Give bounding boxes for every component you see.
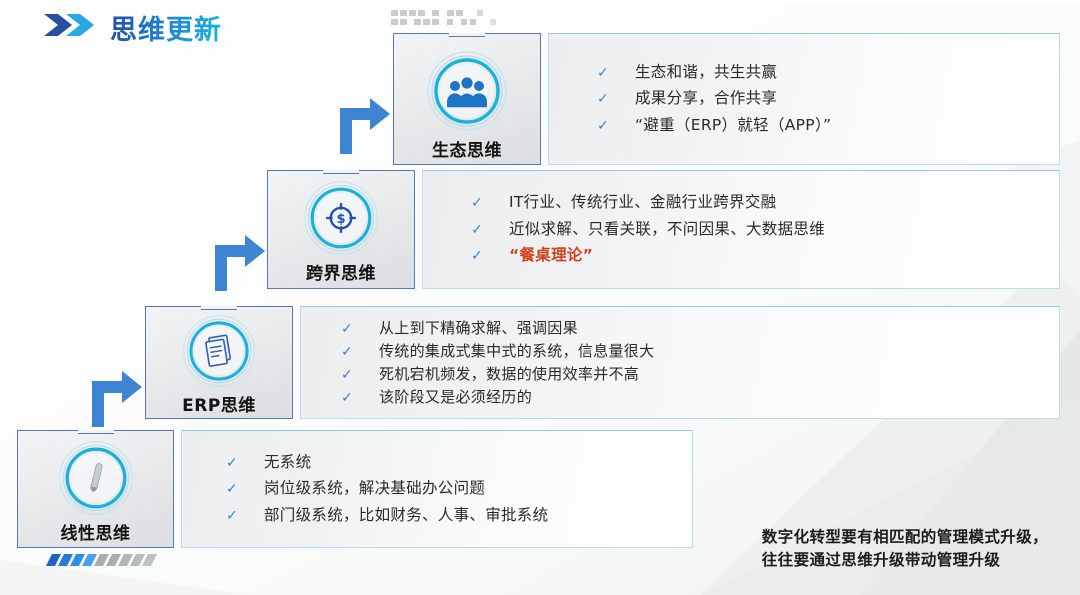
- bullet-text: 成果分享，合作共享: [635, 91, 777, 107]
- bullet-item: ✓ “餐桌理论”: [471, 248, 1059, 264]
- check-icon: ✓: [597, 66, 635, 80]
- check-icon: ✓: [597, 119, 635, 133]
- step-icon-card-erp[interactable]: ERP思维: [145, 306, 293, 419]
- page-title: 思维更新: [44, 8, 222, 47]
- check-icon: ✓: [341, 391, 379, 405]
- step-row-ecology[interactable]: 生态思维 ✓ 生态和谐，共生共赢 ✓ 成果分享，合作共享 ✓ “避重（ERP）就…: [393, 33, 1060, 165]
- bullet-text: IT行业、传统行业、金融行业跨界交融: [509, 195, 776, 211]
- step-label-crossover: 跨界思维: [306, 259, 376, 284]
- step-label-linear: 线性思维: [61, 519, 131, 544]
- step-icon-card-linear[interactable]: 线性思维: [17, 430, 174, 548]
- check-icon: ✓: [471, 196, 509, 210]
- pen-stroke-icon: [57, 439, 135, 517]
- diagonal-slashes-decoration: [42, 552, 164, 573]
- footer-note-line-2: 往往要通过思维升级带动管理升级: [762, 549, 1048, 571]
- check-icon: ✓: [226, 456, 264, 470]
- svg-text:$: $: [336, 212, 345, 227]
- check-icon: ✓: [471, 223, 509, 237]
- bullet-item: ✓ 岗位级系统，解决基础办公问题: [226, 481, 692, 497]
- check-icon: ✓: [341, 345, 379, 359]
- bullet-text: “餐桌理论”: [509, 248, 593, 264]
- bullet-item: ✓ 传统的集成式集中式的系统，信息量很大: [341, 344, 1059, 359]
- bullet-text: 死机宕机频发，数据的使用效率并不高: [379, 367, 639, 382]
- bullet-text: “避重（ERP）就轻（APP）”: [635, 118, 831, 134]
- step-text-panel-ecology: ✓ 生态和谐，共生共赢 ✓ 成果分享，合作共享 ✓ “避重（ERP）就轻（APP…: [548, 33, 1060, 165]
- bullet-text: 从上到下精确求解、强调因果: [379, 321, 578, 336]
- step-text-panel-crossover: ✓ IT行业、传统行业、金融行业跨界交融 ✓ 近似求解、只看关联，不问因果、大数…: [422, 170, 1060, 289]
- bullet-item: ✓ 死机宕机频发，数据的使用效率并不高: [341, 367, 1059, 382]
- step-row-crossover[interactable]: $ 跨界思维 ✓ IT行业、传统行业、金融行业跨界交融 ✓ 近似求解、只看关联，…: [267, 170, 1060, 289]
- arrow-erp-to-crossover: [211, 229, 269, 296]
- arrow-crossover-to-ecology: [336, 92, 394, 159]
- bullet-item: ✓ 该阶段又是必须经历的: [341, 390, 1059, 405]
- step-label-erp: ERP思维: [182, 391, 256, 416]
- step-text-panel-linear: ✓ 无系统 ✓ 岗位级系统，解决基础办公问题 ✓ 部门级系统，比如财务、人事、审…: [181, 430, 693, 548]
- double-chevron-right-icon: [44, 12, 96, 43]
- bullet-item: ✓ 近似求解、只看关联，不问因果、大数据思维: [471, 222, 1059, 238]
- bullet-item: ✓ 成果分享，合作共享: [597, 91, 1059, 107]
- target-dollar-icon: $: [302, 179, 380, 257]
- bullet-text: 该阶段又是必须经历的: [379, 390, 532, 405]
- bullet-text: 无系统: [264, 455, 311, 471]
- page-title-text: 思维更新: [110, 8, 222, 47]
- step-text-panel-erp: ✓ 从上到下精确求解、强调因果 ✓ 传统的集成式集中式的系统，信息量很大 ✓ 死…: [300, 306, 1060, 419]
- bullet-item: ✓ IT行业、传统行业、金融行业跨界交融: [471, 195, 1059, 211]
- check-icon: ✓: [341, 322, 379, 336]
- check-icon: ✓: [341, 368, 379, 382]
- bullet-item: ✓ 无系统: [226, 455, 692, 471]
- step-icon-card-ecology[interactable]: 生态思维: [393, 33, 541, 165]
- bullet-text: 部门级系统，比如财务、人事、审批系统: [264, 508, 548, 524]
- check-icon: ✓: [226, 509, 264, 523]
- bullet-item: ✓ 从上到下精确求解、强调因果: [341, 321, 1059, 336]
- bullet-text: 岗位级系统，解决基础办公问题: [264, 481, 485, 497]
- step-icon-card-crossover[interactable]: $ 跨界思维: [267, 170, 415, 289]
- check-icon: ✓: [597, 92, 635, 106]
- bullet-item: ✓ 部门级系统，比如财务、人事、审批系统: [226, 508, 692, 524]
- footer-note: 数字化转型要有相匹配的管理模式升级， 往往要通过思维升级带动管理升级: [762, 526, 1048, 571]
- bullet-item: ✓ “避重（ERP）就轻（APP）”: [597, 118, 1059, 134]
- bullet-text: 生态和谐，共生共赢: [635, 65, 777, 81]
- people-group-icon: [424, 48, 510, 134]
- pixel-dots-decoration: [391, 10, 497, 35]
- arrow-linear-to-erp: [88, 365, 146, 432]
- bullet-item: ✓ 生态和谐，共生共赢: [597, 65, 1059, 81]
- step-row-erp[interactable]: ERP思维 ✓ 从上到下精确求解、强调因果 ✓ 传统的集成式集中式的系统，信息量…: [145, 306, 1060, 419]
- check-icon: ✓: [471, 249, 509, 263]
- documents-icon: [181, 313, 257, 389]
- bullet-text: 传统的集成式集中式的系统，信息量很大: [379, 344, 654, 359]
- step-label-ecology: 生态思维: [432, 136, 502, 161]
- step-row-linear[interactable]: 线性思维 ✓ 无系统 ✓ 岗位级系统，解决基础办公问题 ✓ 部门级系统，比如财务…: [17, 430, 693, 548]
- check-icon: ✓: [226, 482, 264, 496]
- bullet-text: 近似求解、只看关联，不问因果、大数据思维: [509, 222, 825, 238]
- footer-note-line-1: 数字化转型要有相匹配的管理模式升级，: [762, 526, 1048, 548]
